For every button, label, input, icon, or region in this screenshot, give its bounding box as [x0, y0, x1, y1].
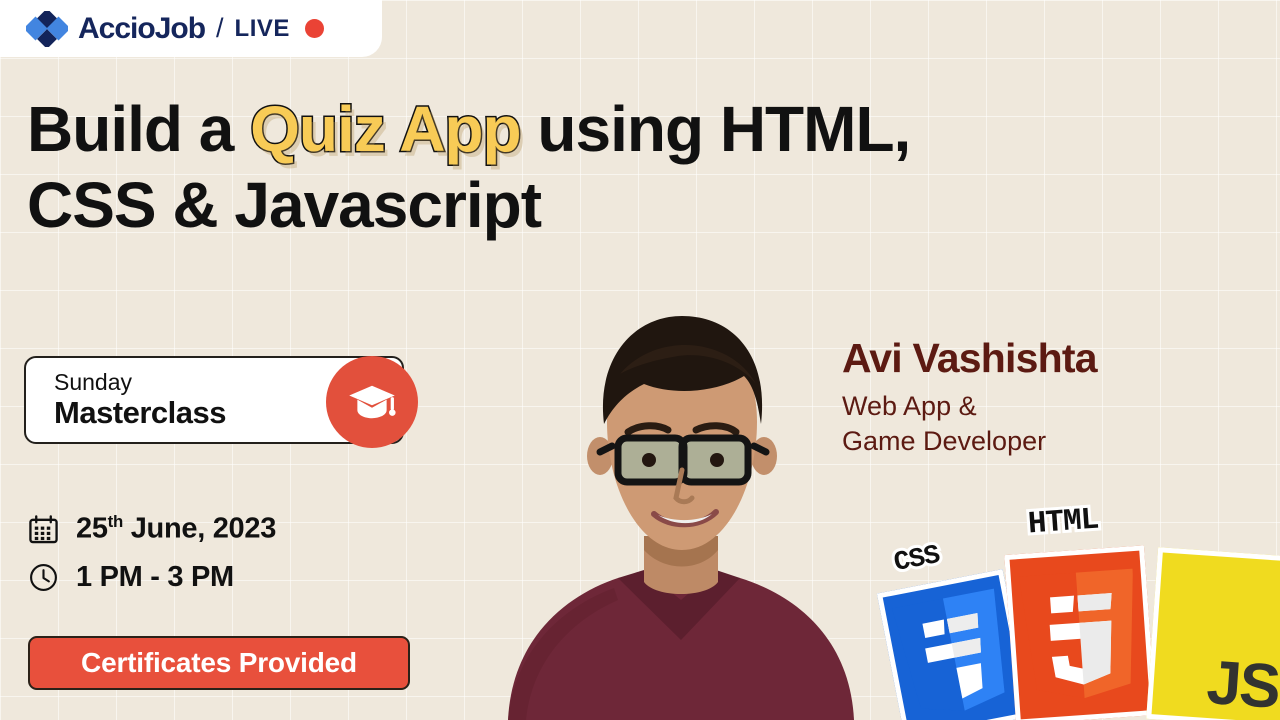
instructor-role-line1: Web App & — [842, 389, 1097, 424]
html5-glyph-icon — [1010, 551, 1151, 720]
tech-logo-cluster: JS CSS HTML — [880, 505, 1280, 720]
javascript-logo: JS — [1146, 547, 1280, 720]
instructor-name: Avi Vashishta — [842, 336, 1097, 381]
event-date: 25th June, 2023 — [76, 512, 276, 546]
event-date-ordinal: th — [108, 512, 123, 531]
masterclass-text: Sunday Masterclass — [26, 370, 226, 430]
clock-icon — [28, 562, 59, 593]
graduation-cap-icon — [326, 356, 418, 448]
headline-prefix: Build a — [27, 93, 250, 165]
brand-badge: AccioJob / LIVE — [0, 0, 382, 57]
masterclass-badge[interactable]: Sunday Masterclass — [24, 356, 404, 444]
css3-glyph-icon — [883, 575, 1026, 720]
brand-name: AccioJob — [78, 14, 205, 44]
schedule-time-row: 1 PM - 3 PM — [28, 553, 276, 601]
headline-accent: Quiz App — [250, 93, 520, 165]
event-time: 1 PM - 3 PM — [76, 561, 234, 594]
headline-line2: CSS & Javascript — [27, 169, 541, 241]
schedule-block: 25th June, 2023 1 PM - 3 PM — [28, 505, 276, 601]
instructor-block: Avi Vashishta Web App & Game Developer — [842, 336, 1097, 458]
masterclass-day: Sunday — [54, 370, 226, 396]
webinar-poster: AccioJob / LIVE Build a Quiz App using H… — [0, 0, 1280, 720]
calendar-icon — [28, 514, 59, 545]
schedule-date-row: 25th June, 2023 — [28, 505, 276, 553]
html-tag-label: HTML — [1027, 503, 1100, 543]
brand-separator: / — [216, 15, 224, 42]
acciojob-diamond-logo — [26, 11, 68, 47]
event-date-day: 25 — [76, 513, 108, 545]
html5-logo — [1004, 545, 1156, 720]
live-red-dot-icon — [305, 19, 324, 38]
instructor-role-line2: Game Developer — [842, 424, 1097, 459]
live-label: LIVE — [235, 17, 290, 41]
instructor-role: Web App & Game Developer — [842, 389, 1097, 458]
masterclass-title: Masterclass — [54, 396, 226, 431]
certificates-label: Certificates Provided — [81, 647, 357, 679]
event-date-rest: June, 2023 — [123, 513, 276, 545]
css-tag-label: CSS — [892, 541, 942, 579]
javascript-glyph-text: JS — [1205, 647, 1280, 720]
page-title: Build a Quiz App using HTML, CSS & Javas… — [27, 92, 1207, 243]
presenter-photo — [468, 300, 898, 720]
certificates-badge[interactable]: Certificates Provided — [28, 636, 410, 690]
headline-suffix: using HTML, — [521, 93, 911, 165]
